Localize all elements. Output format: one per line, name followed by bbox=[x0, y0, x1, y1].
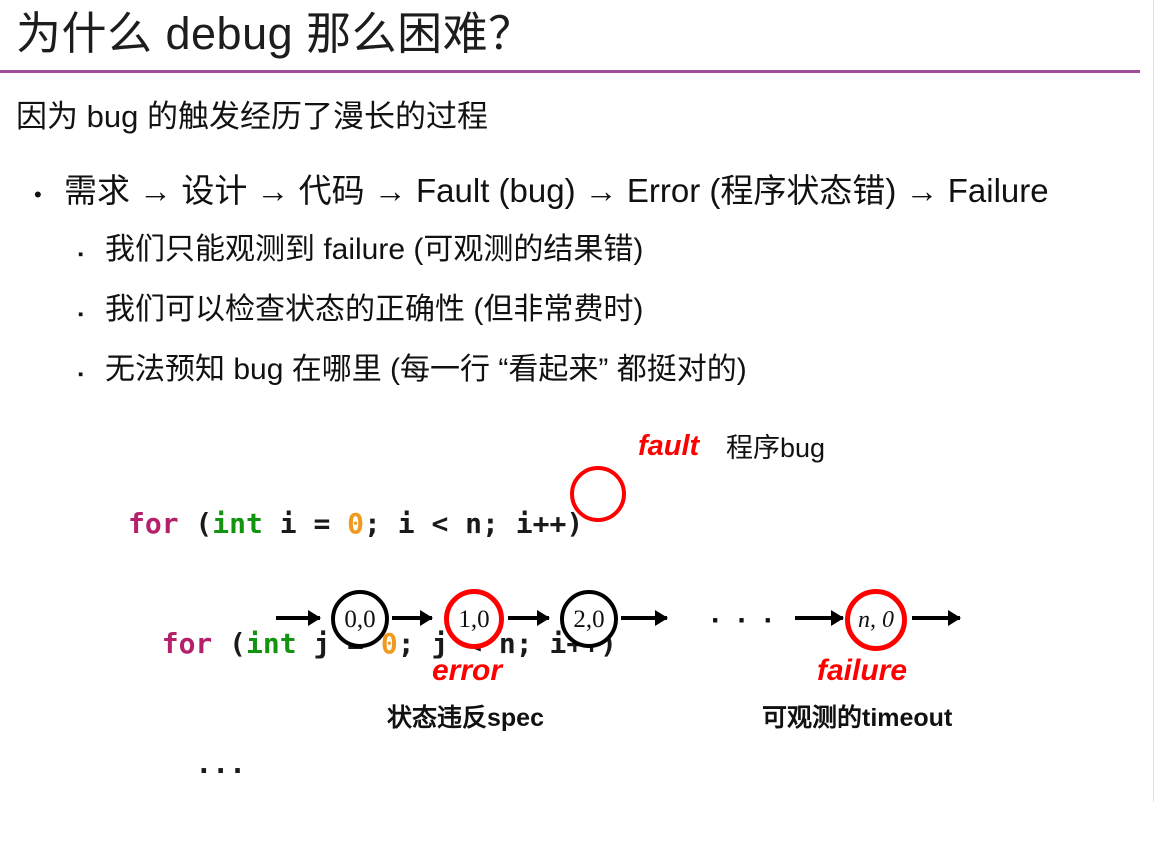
bullet-dot-icon: • bbox=[34, 172, 64, 218]
bullet-level2-label: 我们只能观测到 failure (可观测的结果错) bbox=[105, 228, 643, 272]
bullet-level2-observe-failure: ▪ 我们只能观测到 failure (可观测的结果错) bbox=[78, 228, 643, 277]
state-diagram: 0,0 1,0 2,0 · · · n, 0 error failure 状态违… bbox=[0, 570, 1154, 680]
code-expr-tail: ; i < n; i++) bbox=[364, 507, 583, 540]
code-type-int: int bbox=[212, 507, 263, 540]
caption-failure-timeout: 可观测的timeout bbox=[762, 703, 952, 733]
failure-tag-label: failure bbox=[817, 654, 907, 688]
code-line-1: for (int i = 0; i < n; i++) bbox=[128, 504, 617, 544]
bullet-level2-label: 我们可以检查状态的正确性 (但非常费时) bbox=[105, 288, 643, 332]
slide-canvas: 为什么 debug 那么困难？ 因为 bug 的触发经历了漫长的过程 • 需求 … bbox=[0, 0, 1154, 802]
state-node-1-0: 1,0 bbox=[444, 589, 504, 649]
fault-annotation-label: fault bbox=[638, 428, 699, 464]
diagram-gap-ellipsis: · · · bbox=[711, 606, 778, 636]
arrow-incoming-icon bbox=[276, 616, 320, 620]
state-node-0-0: 0,0 bbox=[331, 590, 389, 648]
code-line-3-ellipsis: ... bbox=[128, 744, 617, 784]
arrow-2-to-next-icon bbox=[621, 616, 667, 620]
state-node-2-0: 2,0 bbox=[560, 590, 618, 648]
arrow-0-to-1-icon bbox=[392, 616, 432, 620]
code-number-zero: 0 bbox=[347, 507, 364, 540]
code-expr: i = bbox=[263, 507, 347, 540]
error-tag-label: error bbox=[432, 654, 502, 688]
bullet-square-icon: ▪ bbox=[78, 293, 105, 337]
bullet-level1-label: 需求 → 设计 → 代码 → Fault (bug) → Error (程序状态… bbox=[64, 168, 1049, 214]
subtitle-text: 因为 bug 的触发经历了漫长的过程 bbox=[16, 96, 488, 138]
page-title: 为什么 debug 那么困难？ bbox=[16, 6, 534, 62]
title-underline-rule bbox=[0, 70, 1140, 73]
arrow-into-n-icon bbox=[795, 616, 843, 620]
bug-highlight-circle-icon bbox=[570, 466, 626, 522]
state-node-n-0: n, 0 bbox=[845, 589, 907, 651]
arrow-1-to-2-icon bbox=[508, 616, 549, 620]
caption-error-spec: 状态违反spec bbox=[387, 703, 544, 733]
code-punct: ( bbox=[179, 507, 213, 540]
bullet-level2-label: 无法预知 bug 在哪里 (每一行 “看起来” 都挺对的) bbox=[105, 348, 747, 392]
bullet-square-icon: ▪ bbox=[78, 353, 105, 397]
fault-annotation-note: 程序bug bbox=[726, 430, 825, 466]
arrow-outgoing-icon bbox=[912, 616, 960, 620]
bullet-level2-unknown-bug: ▪ 无法预知 bug 在哪里 (每一行 “看起来” 都挺对的) bbox=[78, 348, 747, 397]
bullet-square-icon: ▪ bbox=[78, 233, 105, 277]
bullet-level2-check-state: ▪ 我们可以检查状态的正确性 (但非常费时) bbox=[78, 288, 643, 337]
bullet-level1-pipeline: • 需求 → 设计 → 代码 → Fault (bug) → Error (程序… bbox=[34, 168, 1049, 218]
code-keyword-for: for bbox=[128, 507, 179, 540]
